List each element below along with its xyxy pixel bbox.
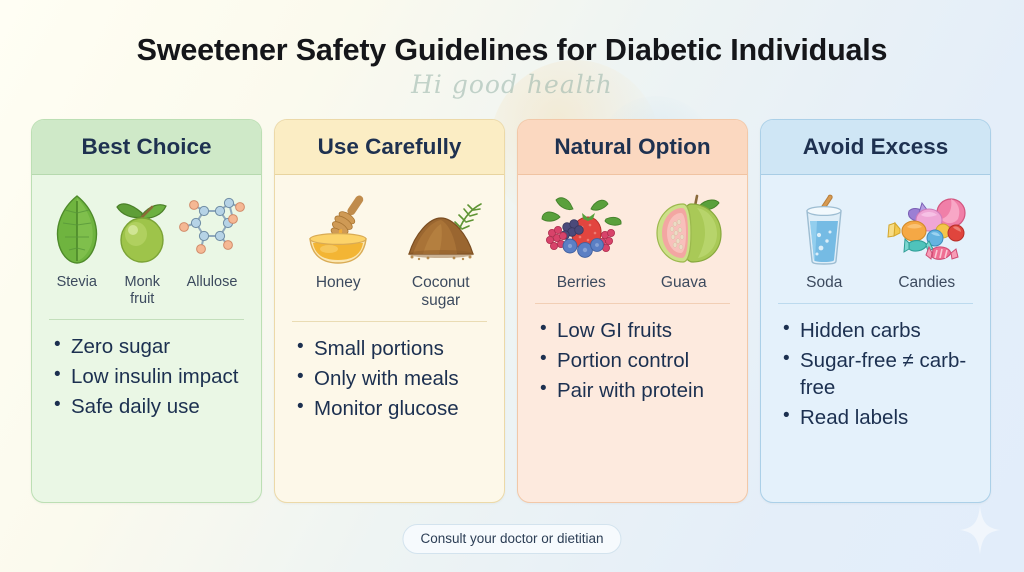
card-best-choice[interactable]: Best Choice bbox=[31, 119, 262, 503]
list-item: Zero sugar bbox=[54, 333, 247, 360]
item-coconut-sugar: Coconut sugar bbox=[392, 191, 491, 310]
item-row-avoid-excess: Soda bbox=[775, 185, 976, 292]
watermark-text: Hi good health bbox=[0, 70, 1024, 99]
coconut-sugar-icon bbox=[392, 191, 491, 267]
item-row-use-carefully: Honey bbox=[289, 185, 490, 310]
list-item: Hidden carbs bbox=[783, 317, 976, 344]
card-header-natural-option: Natural Option bbox=[518, 120, 747, 175]
item-label-berries: Berries bbox=[557, 274, 606, 292]
card-header-avoid-excess: Avoid Excess bbox=[761, 120, 990, 175]
list-item: Low insulin impact bbox=[54, 363, 247, 390]
allulose-molecule-icon bbox=[177, 191, 247, 267]
sparkle-decoration-icon bbox=[958, 504, 1002, 556]
item-row-best-choice: Stevia Monk fruit bbox=[46, 185, 247, 308]
item-allulose: Allulose bbox=[177, 191, 247, 291]
list-item: Sugar-free ≠ carb-free bbox=[783, 347, 976, 401]
item-label-stevia: Stevia bbox=[57, 274, 97, 291]
card-header-use-carefully: Use Carefully bbox=[275, 120, 504, 175]
item-label-soda: Soda bbox=[806, 274, 842, 292]
list-item: Monitor glucose bbox=[297, 395, 490, 422]
list-item: Safe daily use bbox=[54, 393, 247, 420]
item-label-guava: Guava bbox=[661, 274, 707, 292]
bullet-list-natural-option: Low GI fruits Portion control Pair with … bbox=[532, 317, 733, 407]
soda-cup-icon bbox=[775, 191, 874, 267]
item-label-monk-fruit: Monk fruit bbox=[112, 274, 174, 308]
item-berries: Berries bbox=[532, 191, 631, 292]
honey-bowl-icon bbox=[289, 191, 388, 267]
item-row-natural-option: Berries bbox=[532, 185, 733, 292]
item-honey: Honey bbox=[289, 191, 388, 292]
item-label-coconut-sugar: Coconut sugar bbox=[392, 274, 491, 310]
card-body-use-carefully: Honey bbox=[275, 175, 504, 502]
card-header-best-choice: Best Choice bbox=[32, 120, 261, 175]
bullet-list-avoid-excess: Hidden carbs Sugar-free ≠ carb-free Read… bbox=[775, 317, 976, 434]
card-divider-avoid-excess bbox=[778, 303, 973, 304]
item-candies: Candies bbox=[878, 191, 977, 292]
card-divider-use-carefully bbox=[292, 321, 487, 322]
monk-fruit-icon bbox=[112, 191, 174, 267]
item-label-allulose: Allulose bbox=[187, 274, 238, 291]
item-monk-fruit: Monk fruit bbox=[112, 191, 174, 308]
card-body-natural-option: Berries bbox=[518, 175, 747, 502]
bullet-list-best-choice: Zero sugar Low insulin impact Safe daily… bbox=[46, 333, 247, 423]
card-avoid-excess[interactable]: Avoid Excess bbox=[760, 119, 991, 503]
list-item: Only with meals bbox=[297, 365, 490, 392]
guava-icon bbox=[635, 191, 734, 267]
card-use-carefully[interactable]: Use Carefully bbox=[274, 119, 505, 503]
card-body-avoid-excess: Soda bbox=[761, 175, 990, 502]
list-item: Low GI fruits bbox=[540, 317, 733, 344]
item-soda: Soda bbox=[775, 191, 874, 292]
guideline-card-grid: Best Choice bbox=[31, 119, 991, 503]
card-natural-option[interactable]: Natural Option bbox=[517, 119, 748, 503]
footer-disclaimer-pill: Consult your doctor or dietitian bbox=[402, 524, 621, 554]
stevia-leaf-icon bbox=[46, 191, 108, 267]
item-label-candies: Candies bbox=[898, 274, 955, 292]
list-item: Portion control bbox=[540, 347, 733, 374]
list-item: Small portions bbox=[297, 335, 490, 362]
list-item: Read labels bbox=[783, 404, 976, 431]
page-title: Sweetener Safety Guidelines for Diabetic… bbox=[0, 33, 1024, 68]
candies-icon bbox=[878, 191, 977, 267]
mixed-berries-icon bbox=[532, 191, 631, 267]
item-stevia: Stevia bbox=[46, 191, 108, 291]
bullet-list-use-carefully: Small portions Only with meals Monitor g… bbox=[289, 335, 490, 425]
card-body-best-choice: Stevia Monk fruit bbox=[32, 175, 261, 502]
list-item: Pair with protein bbox=[540, 377, 733, 404]
card-divider-natural-option bbox=[535, 303, 730, 304]
card-divider-best-choice bbox=[49, 319, 244, 320]
item-guava: Guava bbox=[635, 191, 734, 292]
item-label-honey: Honey bbox=[316, 274, 361, 292]
